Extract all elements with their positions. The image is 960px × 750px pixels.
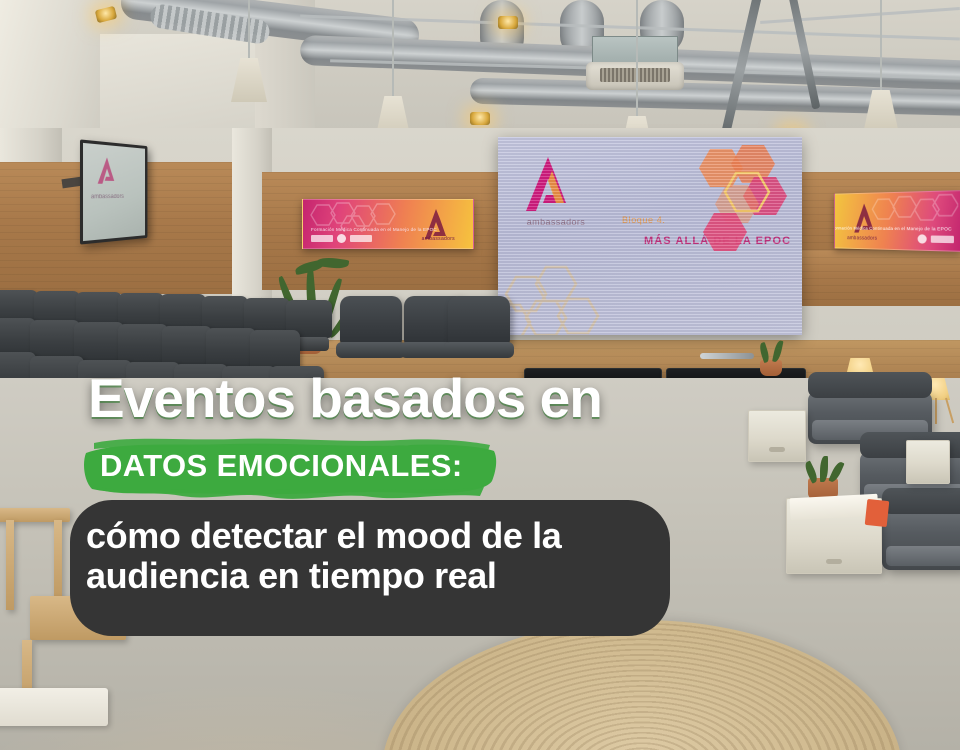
text-overlay: Eventos basados en DATOS EMOCIONALES: có…: [0, 0, 960, 750]
subtitle: cómo detectar el mood de la audiencia en…: [86, 516, 656, 597]
headline: Eventos basados en: [88, 371, 602, 426]
subtitle-line-2: audiencia en tiempo real: [86, 556, 656, 596]
promo-card: ambassadors Bloque 4. MÁS ALLÁ DE LA EPO…: [0, 0, 960, 750]
subtitle-line-1: cómo detectar el mood de la: [86, 516, 656, 556]
brush-label: DATOS EMOCIONALES:: [100, 448, 463, 484]
